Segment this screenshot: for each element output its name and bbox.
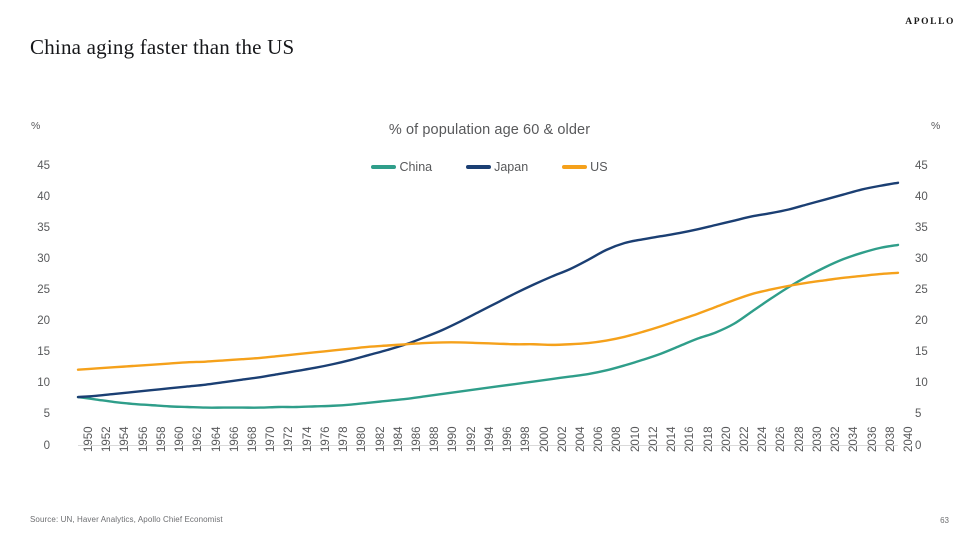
line-series-japan bbox=[78, 183, 898, 397]
line-series-us bbox=[78, 273, 898, 370]
page-number: 63 bbox=[940, 516, 949, 525]
chart-container: % % % of population age 60 & older China… bbox=[0, 0, 979, 548]
series-lines bbox=[78, 183, 898, 408]
chart-plot bbox=[0, 0, 979, 548]
source-note: Source: UN, Haver Analytics, Apollo Chie… bbox=[30, 515, 223, 524]
line-series-china bbox=[78, 245, 898, 408]
